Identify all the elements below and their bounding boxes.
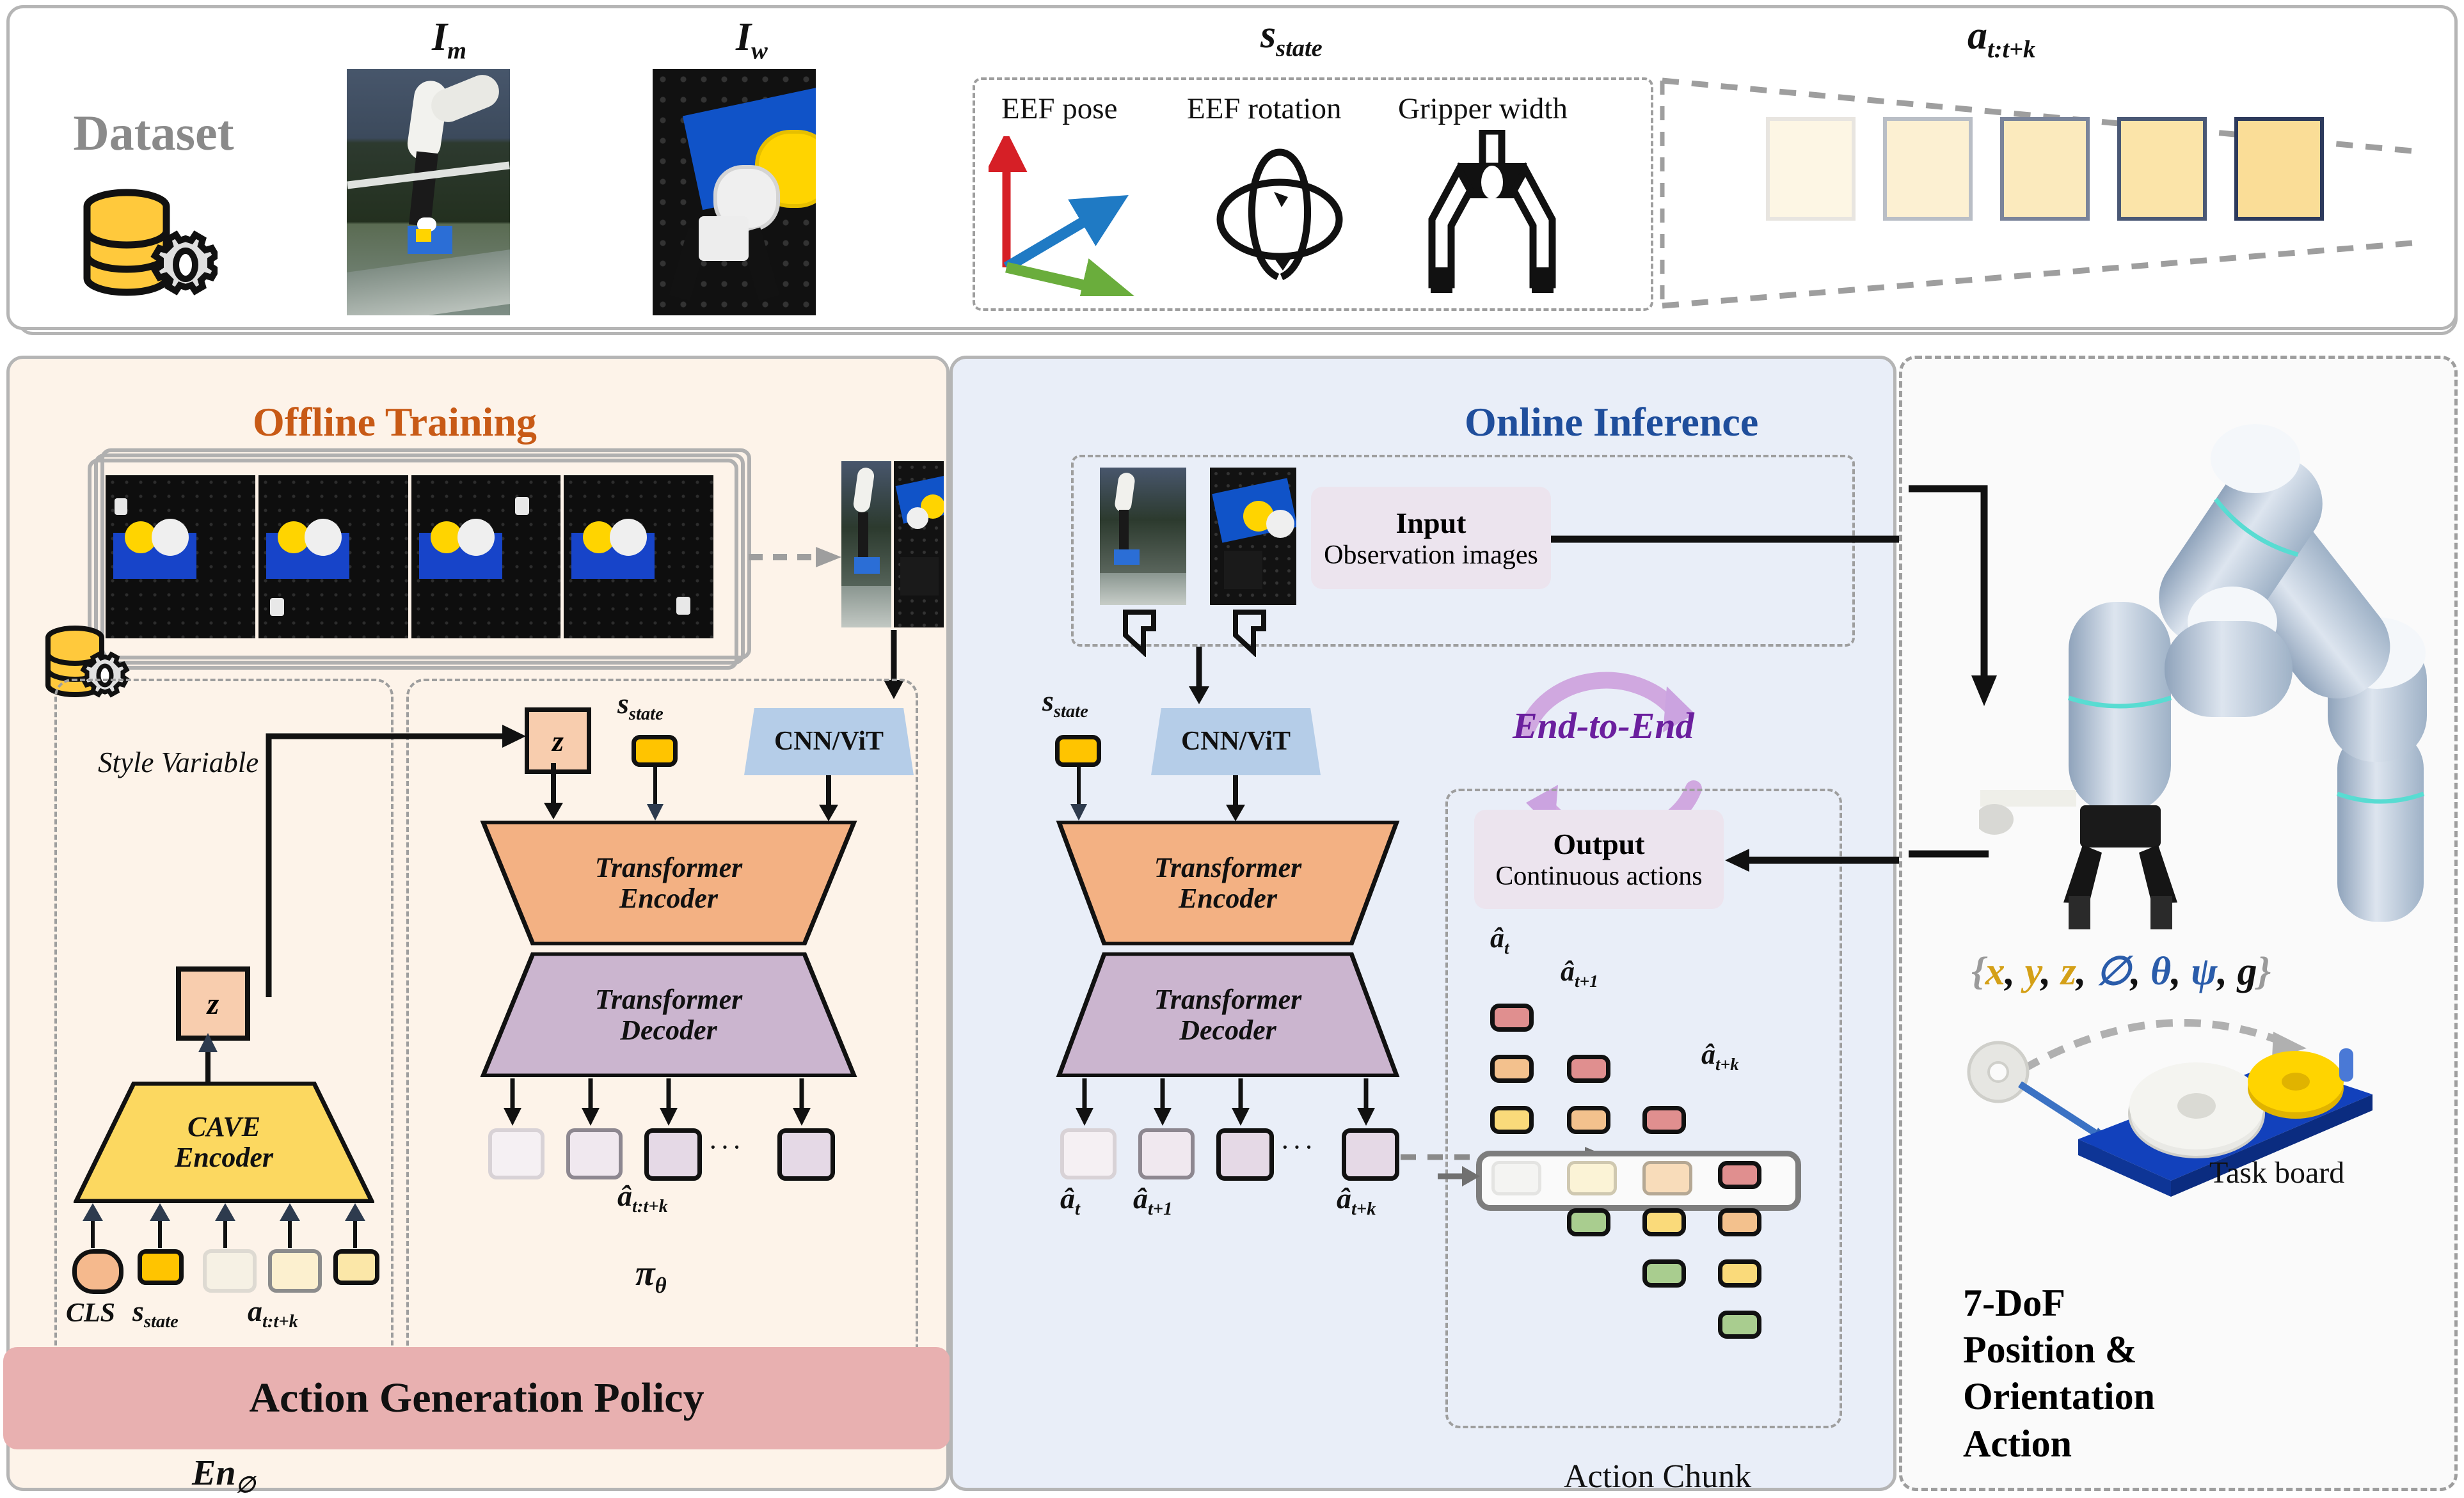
- chunk-cell: [1718, 1259, 1761, 1288]
- gripper-width-icon: [1420, 130, 1561, 299]
- inference-state-token: [1055, 735, 1101, 767]
- eef-rotation-label: EEF rotation: [1187, 91, 1342, 126]
- chunk-cell: [1490, 1106, 1534, 1134]
- task-board-label: Task board: [2209, 1155, 2344, 1190]
- cvae-cls-label: CLS: [66, 1298, 115, 1328]
- inference-output-token-row: ···: [1055, 1078, 1413, 1187]
- offline-output-label: ât:t+k: [617, 1179, 668, 1217]
- online-inference-panel: Online Inference Input Observation image…: [950, 356, 1896, 1491]
- dof-token: ψ: [2191, 950, 2217, 993]
- dof-token: y: [2025, 950, 2041, 993]
- chunk-cell: [1567, 1055, 1610, 1083]
- style-variable-label: Style Variable: [98, 746, 258, 779]
- offline-training-title: Offline Training: [253, 398, 537, 446]
- dof-caption: 7-DoF Position & Orientation Action: [1963, 1280, 2155, 1467]
- dof-token: ,: [2218, 950, 2228, 993]
- inference-encoder-outline: [1036, 821, 1420, 945]
- inference-output-label-2: ât+k: [1337, 1181, 1376, 1220]
- latent-z-cvae-box: z: [176, 966, 250, 1041]
- dof-caption-line: Orientation: [1963, 1373, 2155, 1420]
- offline-output-token: [566, 1128, 623, 1179]
- dof-token: ,: [2041, 950, 2051, 993]
- robot-arm-illustration: [1979, 397, 2452, 934]
- inference-output-token: [1138, 1128, 1195, 1179]
- dof-notation: {x, y, z, ∅, θ, ψ, g}: [1971, 947, 2271, 995]
- action-generation-policy-bar: Action Generation Policy: [3, 1347, 950, 1449]
- state-symbol-label: sstate: [1260, 12, 1323, 62]
- offline-output-ellipsis: ···: [708, 1131, 744, 1163]
- chunk-col-label-0: ât: [1490, 922, 1509, 958]
- policy-module-name: πθ: [635, 1253, 667, 1298]
- chunk-cell: [1490, 1055, 1534, 1083]
- output-card-subtitle: Continuous actions: [1495, 861, 1702, 892]
- chunk-cell: [1642, 1106, 1686, 1134]
- inference-cnn-to-encoder-arrow: [1225, 775, 1246, 826]
- eef-pose-axes-icon: [989, 136, 1155, 299]
- input-to-robot-arrow: [1551, 526, 1909, 555]
- chunk-cell-ensembled: [1567, 1161, 1617, 1195]
- inference-decoder-outline: [1036, 952, 1420, 1077]
- inference-obs-image-wrist: [1210, 468, 1296, 605]
- chunk-cell: [1567, 1208, 1610, 1236]
- chunk-cell: [1642, 1259, 1686, 1288]
- end-to-end-label: End-to-End: [1513, 704, 1694, 747]
- action-token: [1766, 117, 1856, 221]
- inference-output-token: [1060, 1128, 1117, 1179]
- dof-token: g: [2237, 950, 2257, 993]
- cvae-action-token: [268, 1249, 322, 1293]
- cvae-module-name: En∅: [192, 1453, 255, 1498]
- dof-token: ,: [2171, 950, 2181, 993]
- training-filmstrip: [88, 448, 743, 659]
- dof-caption-line: Position &: [1963, 1327, 2155, 1373]
- offline-decoder-outline: [457, 952, 880, 1077]
- cnn-to-encoder-arrow: [818, 775, 839, 826]
- offline-training-panel: Offline Training: [6, 356, 950, 1491]
- chunk-cell: [1642, 1208, 1686, 1236]
- chunk-cell-ensembled: [1491, 1161, 1541, 1195]
- policy-state-label: sstate: [617, 686, 664, 725]
- chunk-cell-ensembled: [1718, 1161, 1761, 1189]
- chunk-cell: [1718, 1311, 1761, 1339]
- dof-token: {: [1971, 950, 1985, 993]
- cvae-action-token: [203, 1249, 257, 1293]
- action-token: [2000, 117, 2090, 221]
- wrist-camera-photo: [653, 69, 816, 315]
- cvae-action-label: at:t+k: [248, 1294, 298, 1332]
- inference-vision-backbone-cnn-vit: CNN/ViT: [1151, 708, 1321, 775]
- output-card-title: Output: [1553, 827, 1644, 861]
- action-chunk-caption: Action Chunk: [1564, 1458, 1751, 1495]
- inference-obs-image-main: [1100, 468, 1186, 605]
- dof-token: x: [1985, 950, 2005, 993]
- gripper-width-label: Gripper width: [1398, 91, 1568, 126]
- cvae-encoder-outline: [74, 1082, 374, 1203]
- input-card-subtitle: Observation images: [1324, 540, 1538, 571]
- chunk-col-label-1: ât+1: [1561, 955, 1598, 991]
- dof-token: ∅: [2096, 950, 2131, 993]
- policy-state-token: [632, 735, 678, 767]
- action-token-row: [1766, 117, 2412, 219]
- eef-rotation-icon: [1206, 133, 1353, 299]
- action-token: [1883, 117, 1973, 221]
- robot-to-output-arrow: [1724, 846, 1909, 878]
- vision-backbone-cnn-vit: CNN/ViT: [744, 708, 914, 775]
- inference-output-token: [1216, 1128, 1274, 1181]
- action-token: [2117, 117, 2207, 221]
- offline-output-token: [488, 1128, 544, 1179]
- chunk-col-label-2: ât+k: [1701, 1038, 1739, 1075]
- chunk-cell: [1490, 1004, 1534, 1032]
- robot-out-arrow: [1909, 845, 1998, 867]
- offline-output-token: [644, 1128, 702, 1181]
- input-down-arrow: [1909, 484, 1998, 717]
- action-symbol-label: at:t+k: [1967, 13, 2035, 63]
- dof-token: z: [2061, 950, 2076, 993]
- cvae-input-arrows: [74, 1202, 374, 1248]
- camera-icon: [1120, 607, 1165, 660]
- wrist-camera-image-label: Iw: [736, 15, 768, 65]
- chunk-cell: [1718, 1208, 1761, 1236]
- inference-output-label-1: ât+1: [1133, 1181, 1172, 1220]
- cvae-cls-token: [72, 1249, 123, 1294]
- inference-state-label: sstate: [1042, 684, 1088, 722]
- inference-output-token: [1342, 1128, 1399, 1181]
- dof-caption-line: 7-DoF: [1963, 1280, 2155, 1327]
- offline-output-token: [777, 1128, 835, 1181]
- dof-token: ,: [2076, 950, 2086, 993]
- filmstrip-to-obs-arrow: [749, 544, 845, 573]
- state-to-encoder-arrow: [645, 767, 665, 825]
- database-gear-icon: [77, 168, 218, 309]
- online-inference-title: Online Inference: [1465, 398, 1758, 446]
- cvae-state-label: sstate: [132, 1294, 179, 1332]
- inference-output-label-0: ât: [1060, 1181, 1080, 1220]
- inference-output-ellipsis: ···: [1280, 1131, 1316, 1163]
- dof-token: }: [2257, 950, 2271, 993]
- dof-token: θ: [2150, 950, 2171, 993]
- input-card: Input Observation images: [1311, 487, 1551, 589]
- main-camera-photo: [347, 69, 510, 315]
- dataset-title: Dataset: [48, 104, 259, 162]
- chunk-cell: [1567, 1106, 1610, 1134]
- eef-pose-label: EEF pose: [1001, 91, 1117, 126]
- main-camera-image-label: Im: [432, 15, 466, 65]
- dof-token: ,: [2131, 950, 2141, 993]
- dataset-panel: Dataset Im Iw: [6, 5, 2458, 330]
- z-to-encoder-arrow: [542, 763, 565, 824]
- dof-caption-line: Action: [1963, 1421, 2155, 1467]
- dof-token: ,: [2005, 950, 2015, 993]
- action-token: [2234, 117, 2324, 221]
- robot-execution-panel: {x, y, z, ∅, θ, ψ, g}: [1899, 356, 2458, 1491]
- cvae-to-z-arrow: [195, 1032, 221, 1086]
- chunk-cell-ensembled: [1642, 1161, 1692, 1195]
- input-card-title: Input: [1396, 506, 1466, 540]
- camera-icon: [1230, 607, 1275, 660]
- offline-output-token-row: ···: [483, 1078, 854, 1187]
- cvae-state-token: [138, 1249, 184, 1285]
- ensembled-row-arrow: [1438, 1163, 1482, 1192]
- training-observation-pair: [841, 461, 944, 627]
- offline-encoder-outline: [457, 821, 880, 945]
- output-card: Output Continuous actions: [1474, 810, 1724, 909]
- inference-obs-to-cnn-arrow: [1186, 647, 1212, 709]
- cvae-action-token: [333, 1249, 379, 1285]
- inference-state-to-encoder-arrow: [1069, 767, 1089, 825]
